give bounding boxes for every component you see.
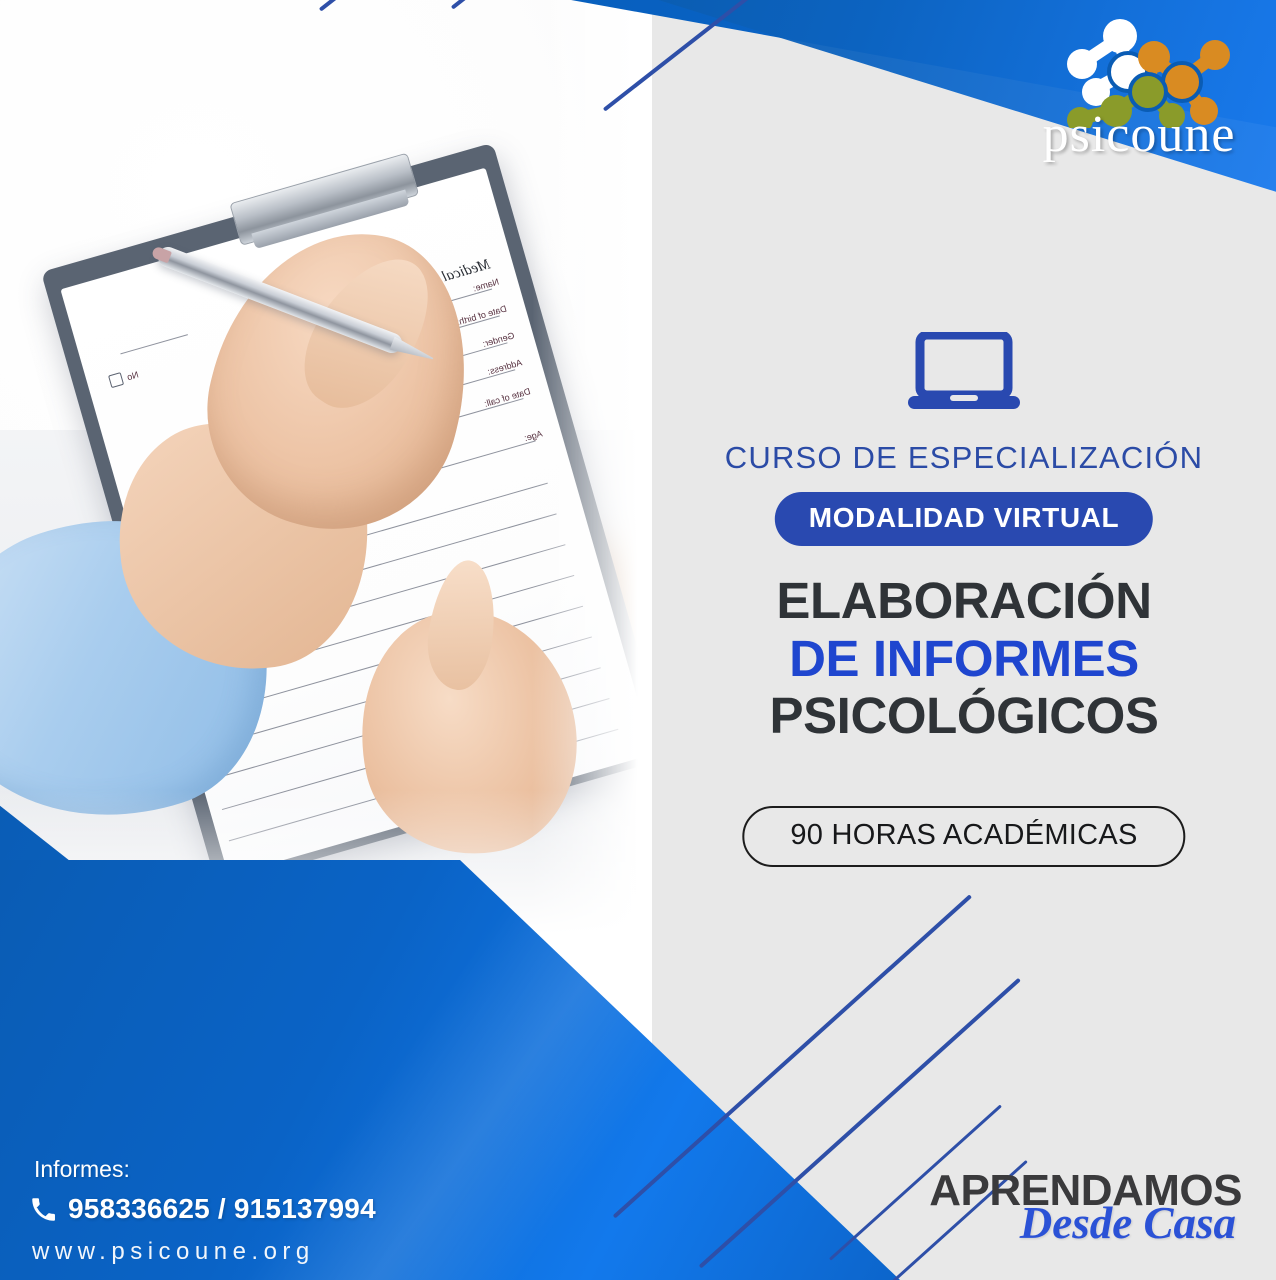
form-label: Address: [487, 357, 524, 376]
hours-badge: 90 HORAS ACADÉMICAS [742, 806, 1185, 867]
form-checkbox-label: No [126, 369, 140, 382]
form-label: Date of call: [483, 386, 531, 409]
informes-label: Informes: [34, 1156, 130, 1183]
course-kicker: CURSO DE ESPECIALIZACIÓN [652, 440, 1276, 476]
form-label: Date of birth: [456, 303, 508, 327]
main-content: CURSO DE ESPECIALIZACIÓN MODALIDAD VIRTU… [652, 0, 1276, 1280]
phone-numbers: 958336625 / 915137994 [68, 1193, 376, 1225]
title-line-3: PSICOLÓGICOS [652, 687, 1276, 745]
modality-badge: MODALIDAD VIRTUAL [775, 492, 1153, 546]
form-checkbox [108, 372, 124, 388]
laptop-icon [906, 332, 1022, 415]
title-line-1: ELABORACIÓN [652, 572, 1276, 630]
poster-canvas: Medical card Name: Date of birth: Gender… [0, 0, 1276, 1280]
page-title: ELABORACIÓN DE INFORMES PSICOLÓGICOS [652, 572, 1276, 745]
slogan: APRENDAMOS Desde Casa [929, 1169, 1242, 1246]
phone-row[interactable]: 958336625 / 915137994 [30, 1193, 376, 1225]
title-line-2: DE INFORMES [652, 630, 1276, 688]
form-label: Gender: [482, 330, 516, 349]
phone-icon [30, 1196, 57, 1223]
clipboard-writing-photo: Medical card Name: Date of birth: Gender… [0, 0, 652, 950]
website-url[interactable]: www.psicoune.org [32, 1238, 315, 1266]
